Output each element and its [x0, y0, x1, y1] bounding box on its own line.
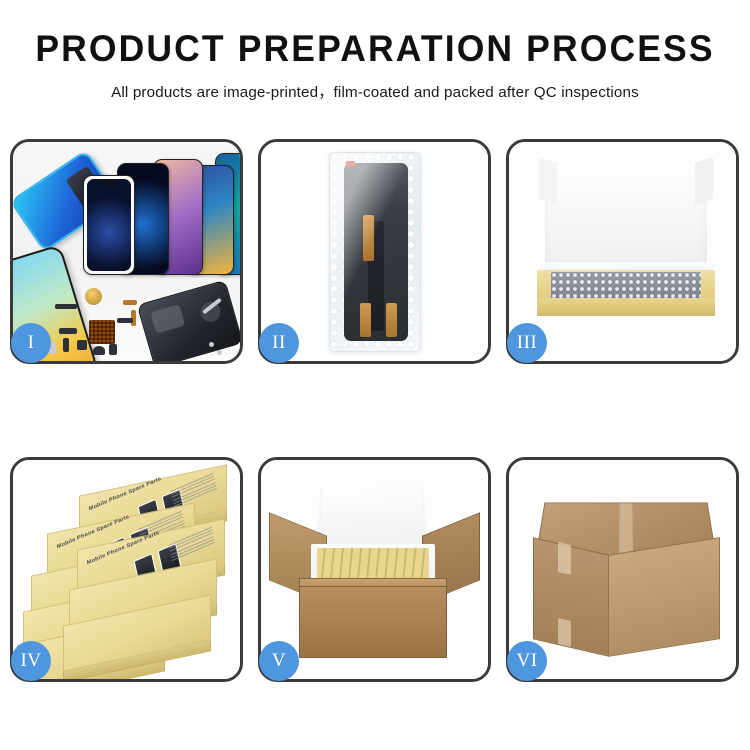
- step-image-2: [261, 142, 488, 361]
- step-badge-2: II: [259, 323, 299, 363]
- foam-lid-open: [319, 485, 425, 549]
- process-steps-grid: I II: [10, 139, 740, 684]
- bracket-part: [59, 328, 77, 334]
- screw-part: [217, 350, 222, 355]
- step-panel-2: II: [258, 139, 491, 364]
- flex-strip-part: [55, 304, 77, 309]
- inner-box-front-panel: [537, 298, 715, 316]
- carton-tape-strip: [558, 618, 571, 647]
- bubble-wrap-bag: [329, 152, 421, 352]
- step-panel-6: VI: [506, 457, 739, 682]
- step-badge-1: I: [11, 323, 51, 363]
- header: PRODUCT PREPARATION PROCESS All products…: [0, 0, 750, 102]
- antenna-part: [117, 318, 133, 323]
- step-panel-5: V: [258, 457, 491, 682]
- connector-part: [123, 300, 137, 305]
- carton-tape-strip: [558, 542, 571, 575]
- step-panel-4: Mobile Phone Spare Parts Mobile Phone Sp…: [10, 457, 243, 682]
- page-root: PRODUCT PREPARATION PROCESS All products…: [0, 0, 750, 750]
- ic-part: [109, 344, 117, 355]
- screw-part: [209, 342, 214, 347]
- bubble-wrap-contents: [551, 272, 701, 300]
- step-panel-3: III: [506, 139, 739, 364]
- foam-lid: [545, 160, 707, 278]
- step-badge-3: III: [507, 323, 547, 363]
- page-subtitle: All products are image-printed，film-coat…: [0, 80, 750, 102]
- step-image-1: [13, 142, 240, 361]
- small-bracket-part: [63, 338, 69, 352]
- tweezers-part: [202, 298, 222, 315]
- step-panel-1: I: [10, 139, 243, 364]
- step-badge-4: IV: [11, 641, 51, 681]
- step-badge-6: VI: [507, 641, 547, 681]
- box-stack: Mobile Phone Spare Parts Mobile Phone Sp…: [17, 474, 239, 670]
- step-image-5: [261, 460, 488, 679]
- chip-array-part: [89, 320, 115, 344]
- carton-left-face: [533, 537, 609, 657]
- step-image-3: [509, 142, 736, 361]
- bag-gloss-overlay: [330, 153, 420, 351]
- page-title: PRODUCT PREPARATION PROCESS: [15, 30, 735, 69]
- carton-right-face: [608, 537, 720, 657]
- phone-1: [83, 175, 135, 275]
- carton-body: [299, 586, 447, 658]
- speaker-part: [85, 288, 102, 305]
- step-image-4: Mobile Phone Spare Parts Mobile Phone Sp…: [13, 460, 240, 679]
- step-badge-5: V: [259, 641, 299, 681]
- phone-notch: [100, 180, 118, 184]
- vibrator-part: [93, 346, 105, 355]
- box-lid-spec-lines: [168, 527, 215, 563]
- step-image-6: [509, 460, 736, 679]
- camera-part: [77, 340, 87, 350]
